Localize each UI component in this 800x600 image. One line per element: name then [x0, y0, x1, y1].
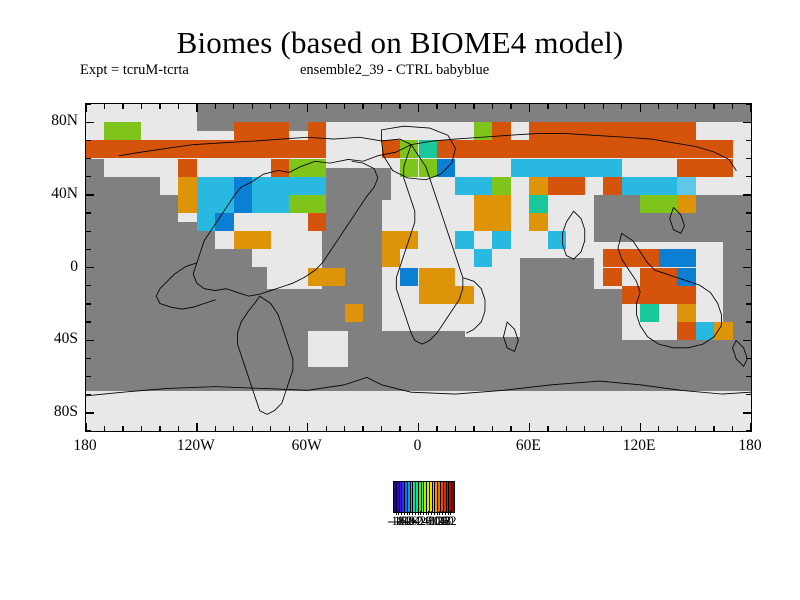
y-axis-tick	[86, 103, 91, 104]
x-axis-tick	[381, 104, 382, 109]
x-axis-tick	[141, 426, 142, 431]
x-axis-tick	[196, 423, 197, 431]
biome-cell	[234, 122, 271, 140]
x-axis-tick	[621, 104, 622, 109]
ensemble-label: ensemble2_39 - CTRL babyblue	[300, 62, 489, 79]
biome-cell	[400, 159, 418, 177]
biome-cell	[308, 140, 326, 158]
x-axis-tick	[695, 426, 696, 431]
biome-cell	[622, 249, 659, 267]
y-axis-tick	[746, 376, 751, 377]
biome-cell	[640, 140, 695, 158]
biome-cell	[529, 177, 547, 195]
x-axis-tick	[492, 426, 493, 431]
x-axis-tick	[473, 426, 474, 431]
biome-cell	[640, 195, 677, 213]
y-axis-tick-label: 40N	[51, 185, 78, 203]
biome-cell	[400, 231, 418, 249]
biome-cell	[622, 286, 696, 304]
biome-cell	[585, 159, 603, 177]
x-axis-tick	[85, 104, 86, 112]
x-axis-tick-label: 60W	[292, 437, 322, 455]
biome-cell	[696, 140, 733, 158]
x-axis-tick-label: 60E	[516, 437, 541, 455]
y-axis-tick	[86, 194, 94, 195]
biome-cell	[289, 177, 326, 195]
biome-cell	[215, 213, 233, 231]
biome-cell	[603, 268, 621, 286]
x-axis-tick	[603, 104, 604, 109]
y-axis-tick	[86, 430, 91, 431]
y-axis-tick	[86, 394, 91, 395]
y-axis-tick	[746, 231, 751, 232]
biome-cell	[677, 322, 695, 340]
biome-cell	[696, 322, 714, 340]
x-axis-tick	[362, 426, 363, 431]
x-axis-tick	[547, 104, 548, 109]
y-axis-tick	[746, 430, 751, 431]
y-axis-tick	[86, 249, 91, 250]
biome-cell	[455, 286, 473, 304]
colorbar-tick-labels: -18-16-14-12-10-8-6-4-202468101214161820…	[343, 514, 503, 529]
y-axis-tick	[86, 267, 94, 268]
y-axis-tick	[746, 212, 751, 213]
y-axis-tick	[746, 249, 751, 250]
x-axis-tick	[436, 426, 437, 431]
y-axis-tick	[746, 285, 751, 286]
biome-cell	[382, 249, 400, 267]
x-axis-tick-label: 120W	[177, 437, 215, 455]
biome-cell	[529, 122, 603, 140]
biome-cell	[474, 249, 492, 267]
x-axis-tick	[713, 104, 714, 109]
biome-cell	[178, 140, 215, 158]
biome-grid-cells	[86, 104, 751, 431]
biome-cell	[640, 304, 658, 322]
x-axis-tick	[178, 426, 179, 431]
biome-cell	[455, 231, 473, 249]
biome-cell	[252, 177, 289, 195]
x-axis-tick	[510, 426, 511, 431]
y-axis-tick	[743, 267, 751, 268]
y-axis-tick	[86, 176, 91, 177]
y-axis-tick-label: 40S	[54, 330, 78, 348]
x-axis-tick	[732, 426, 733, 431]
x-axis-tick	[436, 104, 437, 109]
x-axis-tick	[640, 104, 641, 112]
x-axis-tick	[141, 104, 142, 109]
y-axis-tick	[746, 358, 751, 359]
biome-cell	[419, 140, 437, 158]
x-axis-tick	[640, 423, 641, 431]
biome-cell	[677, 268, 695, 286]
biome-cell	[511, 159, 585, 177]
map-plot-area[interactable]	[85, 103, 752, 432]
x-axis-tick-label: 180	[73, 437, 96, 455]
x-axis-tick	[677, 426, 678, 431]
x-axis-tick	[529, 104, 530, 112]
biome-cell	[548, 177, 585, 195]
biome-cell	[197, 213, 215, 231]
biome-cell	[308, 122, 326, 140]
y-axis-tick-label: 0	[70, 258, 78, 276]
biome-cell	[123, 122, 141, 140]
x-axis-tick	[677, 104, 678, 109]
biome-cell	[474, 213, 492, 231]
x-axis-tick	[122, 426, 123, 431]
x-axis-tick	[307, 104, 308, 112]
y-axis-tick-label: 80N	[51, 112, 78, 130]
x-axis-tick	[270, 104, 271, 109]
x-axis-tick	[344, 426, 345, 431]
biome-cell	[215, 177, 233, 195]
y-axis-tick-label: 80S	[54, 403, 78, 421]
biome-cell	[400, 140, 418, 158]
x-axis-labels: 180120W60W060E120E180	[85, 437, 750, 459]
x-axis-tick	[455, 104, 456, 109]
biome-cell	[714, 322, 732, 340]
y-axis-tick	[743, 340, 751, 341]
x-axis-tick	[215, 104, 216, 109]
x-axis-tick	[307, 423, 308, 431]
biome-cell	[252, 231, 270, 249]
x-axis-tick	[289, 104, 290, 109]
y-axis-tick	[746, 140, 751, 141]
y-axis-tick	[86, 158, 91, 159]
page-title: Biomes (based on BIOME4 model)	[0, 26, 800, 60]
x-axis-tick	[159, 426, 160, 431]
x-axis-tick	[566, 426, 567, 431]
biome-cell	[677, 304, 695, 322]
biome-cell	[289, 159, 326, 177]
biome-cell	[271, 140, 308, 158]
y-axis-tick	[746, 158, 751, 159]
biome-cell	[308, 213, 326, 231]
x-axis-tick	[473, 104, 474, 109]
x-axis-tick	[252, 104, 253, 109]
biome-cell	[548, 231, 566, 249]
x-axis-tick	[326, 426, 327, 431]
biome-cell	[215, 195, 233, 213]
y-axis-tick	[86, 212, 91, 213]
biome-cell	[252, 140, 270, 158]
biome-cell	[696, 159, 733, 177]
biome-cell	[474, 195, 511, 213]
biome-cell	[289, 195, 326, 213]
biome-cell	[252, 195, 289, 213]
x-axis-tick	[362, 104, 363, 109]
y-axis-tick	[86, 340, 94, 341]
x-axis-tick	[621, 426, 622, 431]
x-axis-tick	[289, 426, 290, 431]
y-axis-tick	[746, 303, 751, 304]
x-axis-tick	[547, 426, 548, 431]
x-axis-tick	[104, 426, 105, 431]
biome-cell	[677, 177, 695, 195]
x-axis-tick	[732, 104, 733, 109]
y-axis-tick	[746, 103, 751, 104]
biome-cell	[566, 140, 640, 158]
biome-cell	[603, 122, 658, 140]
biome-cell	[474, 122, 492, 140]
y-axis-tick	[86, 412, 94, 413]
y-axis-tick	[743, 412, 751, 413]
x-axis-tick	[658, 104, 659, 109]
land-mask	[308, 331, 349, 367]
y-axis-tick	[746, 321, 751, 322]
x-axis-tick	[584, 426, 585, 431]
biome-cell	[178, 159, 196, 177]
x-axis-tick	[104, 104, 105, 109]
biome-cell	[677, 195, 695, 213]
biome-cell	[659, 249, 696, 267]
land-mask	[86, 391, 419, 431]
biome-cell	[215, 140, 252, 158]
x-axis-tick	[695, 104, 696, 109]
x-axis-tick	[658, 426, 659, 431]
y-axis-tick	[86, 122, 94, 123]
x-axis-tick	[713, 426, 714, 431]
biome-cell	[603, 177, 621, 195]
y-axis-tick	[746, 176, 751, 177]
biome-cell	[141, 140, 178, 158]
biome-cell	[603, 249, 621, 267]
biome-cell	[178, 195, 196, 213]
x-axis-tick	[326, 104, 327, 109]
x-axis-tick	[418, 423, 419, 431]
biome-cell	[474, 177, 492, 195]
biome-cell	[345, 304, 363, 322]
biome-cell	[197, 195, 215, 213]
x-axis-tick	[584, 104, 585, 109]
biome-cell	[492, 177, 510, 195]
y-axis-tick	[86, 303, 91, 304]
y-axis-tick	[86, 376, 91, 377]
x-axis-tick	[455, 426, 456, 431]
biome-cell	[271, 122, 289, 140]
x-axis-tick	[381, 426, 382, 431]
y-axis-tick	[86, 358, 91, 359]
biome-cell	[234, 231, 252, 249]
biome-cell	[492, 140, 566, 158]
biome-cell	[455, 177, 473, 195]
colorbar[interactable]	[393, 481, 455, 513]
biome-cell	[234, 195, 252, 213]
biome-cell	[419, 159, 437, 177]
x-axis-tick	[492, 104, 493, 109]
x-axis-tick	[603, 426, 604, 431]
y-axis-tick	[743, 122, 751, 123]
x-axis-tick	[418, 104, 419, 112]
x-axis-tick	[252, 426, 253, 431]
biome-cell	[492, 213, 510, 231]
biome-cell	[104, 122, 122, 140]
x-axis-tick	[159, 104, 160, 109]
x-axis-tick	[510, 104, 511, 109]
x-axis-tick-label: 0	[414, 437, 422, 455]
biome-cell	[492, 231, 510, 249]
y-axis-tick	[86, 231, 91, 232]
biome-cell	[455, 140, 492, 158]
biome-cell	[308, 268, 345, 286]
biome-cell	[234, 177, 252, 195]
x-axis-tick	[399, 426, 400, 431]
biome-cell	[400, 268, 418, 286]
y-axis-tick	[86, 321, 91, 322]
x-axis-tick	[233, 104, 234, 109]
biome-cell	[178, 177, 196, 195]
x-axis-tick	[233, 426, 234, 431]
biome-cell	[659, 177, 677, 195]
y-axis-tick	[86, 285, 91, 286]
y-axis-tick	[746, 394, 751, 395]
biome-cell	[492, 122, 510, 140]
biome-cell	[529, 195, 547, 213]
x-axis-tick	[196, 104, 197, 112]
x-axis-tick-label: 180	[738, 437, 761, 455]
x-axis-tick-label: 120E	[623, 437, 656, 455]
biome-cell	[86, 140, 104, 158]
colorbar-tick-label: 22	[444, 514, 457, 529]
biome-cell	[603, 159, 621, 177]
x-axis-tick	[178, 104, 179, 109]
biome-cell	[104, 140, 122, 158]
y-axis-tick	[86, 140, 91, 141]
biome-cell	[659, 122, 696, 140]
biome-cell	[419, 286, 437, 304]
experiment-label: Expt = tcruM-tcrta	[80, 62, 189, 79]
land-mask	[419, 391, 752, 431]
x-axis-tick	[529, 423, 530, 431]
biome-cell	[677, 159, 695, 177]
x-axis-tick	[344, 104, 345, 109]
x-axis-tick	[399, 104, 400, 109]
x-axis-tick	[122, 104, 123, 109]
biome-cell	[437, 286, 455, 304]
biome-cell	[529, 213, 547, 231]
y-axis-tick	[743, 194, 751, 195]
colorbar-swatch[interactable]	[452, 482, 454, 512]
x-axis-tick	[215, 426, 216, 431]
biome-cell	[437, 159, 455, 177]
y-axis-labels: 80N40N040S80S	[20, 103, 78, 430]
x-axis-tick	[750, 104, 751, 112]
biome-cell	[123, 140, 141, 158]
biome-cell	[419, 268, 456, 286]
x-axis-tick	[566, 104, 567, 109]
biome-cell	[197, 177, 215, 195]
x-axis-tick	[270, 426, 271, 431]
biome-cell	[382, 231, 400, 249]
